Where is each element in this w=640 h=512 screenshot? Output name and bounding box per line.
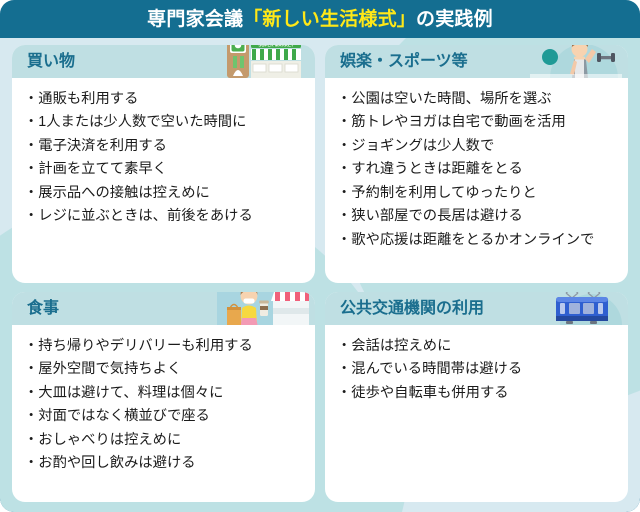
card-public-transport-title: 公共交通機関の利用 xyxy=(340,301,484,317)
list-item: ・展示品への接触は控えめに xyxy=(24,181,305,204)
exercise-person-icon xyxy=(530,45,622,78)
list-item: ・レジに並ぶときは、前後をあける xyxy=(24,204,305,227)
card-public-transport-body: ・会話は控えめに ・混んでいる時間帯は避ける ・徒歩や自転車も併用する xyxy=(325,325,628,414)
list-item: ・電子決済を利用する xyxy=(24,134,305,157)
list-item: ・ジョギングは少人数で xyxy=(337,134,618,157)
card-public-transport: 公共交通機関の利用 xyxy=(325,292,628,502)
list-item: ・すれ違うときは距離をとる xyxy=(337,157,618,180)
list-item: ・1人または少人数で空いた時間に xyxy=(24,110,305,133)
list-item: ・通販も利用する xyxy=(24,87,305,110)
train-icon xyxy=(530,292,622,325)
list-item: ・徒歩や自転車も併用する xyxy=(337,381,618,404)
card-meals-body: ・持ち帰りやデリバリーも利用する ・屋外空間で気持ちよく ・大皿は避けて、料理は… xyxy=(12,325,315,485)
card-entertainment-sports-header: 娯楽・スポーツ等 xyxy=(325,45,628,78)
card-entertainment-sports-title: 娯楽・スポーツ等 xyxy=(340,54,468,70)
title-segment-highlight: 「新しい生活様式」 xyxy=(243,9,416,30)
svg-text:SUPER MARKET: SUPER MARKET xyxy=(258,45,293,48)
list-item: ・混んでいる時間帯は避ける xyxy=(337,357,618,380)
list-item: ・公園は空いた時間、場所を選ぶ xyxy=(337,87,618,110)
list-item: ・大皿は避けて、料理は個々に xyxy=(24,381,305,404)
card-shopping-title: 買い物 xyxy=(27,54,75,70)
card-shopping-header: 買い物 SUPER MARKET xyxy=(12,45,315,78)
list-item: ・筋トレやヨガは自宅で動画を活用 xyxy=(337,110,618,133)
list-item: ・お酌や回し飲みは避ける xyxy=(24,451,305,474)
card-public-transport-header: 公共交通機関の利用 xyxy=(325,292,628,325)
list-item: ・おしゃべりは控えめに xyxy=(24,428,305,451)
list-item: ・屋外空間で気持ちよく xyxy=(24,357,305,380)
list-item: ・持ち帰りやデリバリーも利用する xyxy=(24,334,305,357)
list-item: ・計画を立てて素早く xyxy=(24,157,305,180)
card-shopping: 買い物 SUPER MARKET xyxy=(12,45,315,283)
list-item: ・会話は控えめに xyxy=(337,334,618,357)
card-entertainment-sports: 娯楽・スポーツ等 xyxy=(325,45,628,283)
title-segment-after: の実践例 xyxy=(416,9,493,30)
page-title: 専門家会議「新しい生活様式」の実践例 xyxy=(147,10,493,29)
list-item: ・対面ではなく横並びで座る xyxy=(24,404,305,427)
takeout-person-icon xyxy=(217,292,309,325)
card-grid: 買い物 SUPER MARKET xyxy=(0,38,640,512)
card-entertainment-sports-body: ・公園は空いた時間、場所を選ぶ ・筋トレやヨガは自宅で動画を活用 ・ジョギングは… xyxy=(325,78,628,274)
list-item: ・歌や応援は距離をとるかオンラインで xyxy=(337,228,618,251)
list-item: ・予約制を利用してゆったりと xyxy=(337,181,618,204)
title-segment-before: 専門家会議 xyxy=(147,9,243,30)
card-meals-header: 食事 xyxy=(12,292,315,325)
poster-header: 専門家会議「新しい生活様式」の実践例 xyxy=(0,0,640,38)
card-meals: 食事 xyxy=(12,292,315,502)
supermarket-icon: SUPER MARKET xyxy=(217,45,309,78)
poster-root: 専門家会議「新しい生活様式」の実践例 買い物 xyxy=(0,0,640,512)
list-item: ・狭い部屋での長居は避ける xyxy=(337,204,618,227)
card-shopping-body: ・通販も利用する ・1人または少人数で空いた時間に ・電子決済を利用する ・計画… xyxy=(12,78,315,274)
card-meals-title: 食事 xyxy=(27,301,59,317)
